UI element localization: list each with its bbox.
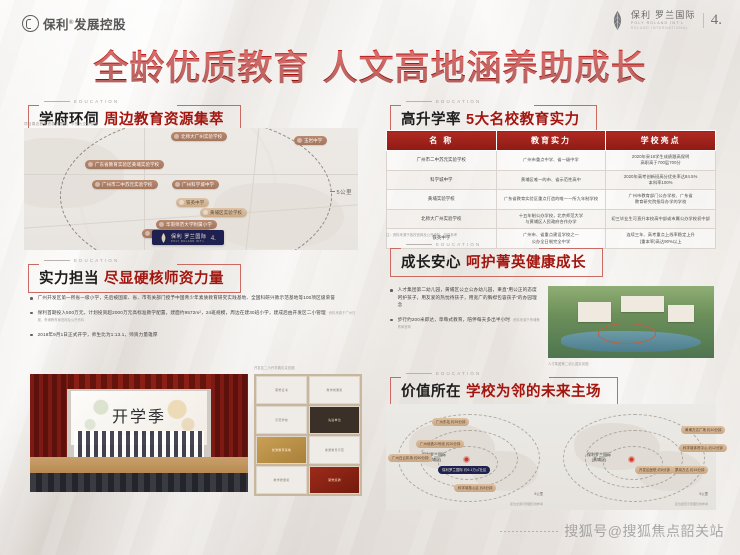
map-footnote: 区位配套示意图仅供参考 <box>675 502 708 506</box>
map-pin[interactable]: 玉岩中学 <box>294 136 327 145</box>
table-cell: 连续三年、高考重点上线率稳定上升(重本率)高达90%以上 <box>606 229 716 249</box>
award-plaque-label: 优秀教育基地 <box>272 448 291 452</box>
aerial-building <box>621 296 664 312</box>
section-growth-title-a: 成长安心 <box>401 255 461 271</box>
logo-divider <box>703 13 704 28</box>
school-icon <box>179 200 184 205</box>
project-location-district: (黄埔区) <box>587 457 611 462</box>
award-plaque: 教学成果奖 <box>309 376 360 404</box>
table-row: 黄埔实验学校广东省教育实验区重点打造的唯一一所九年制学校广州市教育部门公办学校、… <box>387 190 716 210</box>
section-faculty-title-b: 尽显硬核师资力量 <box>104 271 224 287</box>
location-map-left[interactable]: 保利罗兰国际(黄埔区)广州东站 约35分钟广州地铁21号线 约20分钟广州白云机… <box>386 404 551 510</box>
school-icon <box>174 134 179 139</box>
project-location-dot[interactable] <box>628 456 635 463</box>
kindergarten-aerial-photo[interactable] <box>548 286 714 358</box>
award-plaque-label: 荣誉证书 <box>275 388 288 392</box>
award-plaque-label: 教学成果奖 <box>326 388 342 392</box>
map-poi-tag[interactable]: 科学城体育中心 约12分钟 <box>679 444 727 452</box>
location-maps[interactable]: 保利罗兰国际(黄埔区)广州东站 约35分钟广州地铁21号线 约20分钟广州白云机… <box>386 404 716 510</box>
section-value-eyebrow: EDUCATION <box>390 371 618 376</box>
stage-performers <box>74 431 205 457</box>
bullet-text: 2018年9月1日正式开学，师生比为1:13.1，师资力量雄厚 <box>38 331 158 339</box>
map-poi-tag[interactable]: 开发区医院 约8分钟 <box>635 466 674 474</box>
brand-name-text: 保利 <box>43 18 69 32</box>
map-poi-tag[interactable]: 广州地铁21号线 约20分钟 <box>416 440 464 448</box>
poly-logo-icon <box>22 15 39 32</box>
bullet-text: 步行约200米即达，草莓式教育，陪伴每天多出半小时资料来源于黄埔教育局官网 <box>398 316 540 331</box>
map-poi-tag[interactable]: 广州东站 约35分钟 <box>432 418 469 426</box>
estate-marker[interactable]: 保利 罗兰国际 POLY ROLAND INT'L 4. <box>152 230 224 245</box>
section-growth-box: 成长安心呵护菁英健康成长 <box>390 248 603 277</box>
watermark-rule <box>500 531 558 532</box>
project-name-cn: 保利 罗兰国际 <box>631 11 696 20</box>
project-logo-text: 保利 罗兰国际 POLY ROLAND INT'L ROLAND INTERNA… <box>631 11 696 30</box>
project-logo: 保利 罗兰国际 POLY ROLAND INT'L ROLAND INTERNA… <box>611 11 722 30</box>
brand-name: 保利®发展控股 <box>43 14 126 33</box>
stage-curtain-left <box>30 374 67 461</box>
map-pin-label: 铁英中学 <box>186 200 204 206</box>
table-cell: 十五年制公办学校，北京师范大学与黄埔区人民政府合作办学 <box>496 209 606 229</box>
section-header-faculty: EDUCATION 实力担当尽显硬核师资力量 <box>28 258 241 293</box>
bullet-text: 广州开发区第一所省一级小学，先后被国家、省、市有关部门授予中国青少年素质教育研究… <box>38 294 336 302</box>
school-icon <box>297 138 302 143</box>
photo-caption: 开发区二小开学典礼实景图 <box>254 365 295 370</box>
award-plaque-label: 示范学校 <box>275 418 288 422</box>
map-poi-tag[interactable]: 广州白云机场 约50分钟 <box>388 454 432 462</box>
project-name-en2: ROLAND INTERNATIONAL <box>631 27 696 30</box>
section-header-value: EDUCATION 价值所在学校为邻的未来主场 <box>390 371 618 406</box>
table-cell: 广州市二中苏元实验学校 <box>387 151 497 171</box>
bullet-source: 资料来源于黄埔教育局官网 <box>398 318 540 330</box>
section-value-title-a: 价值所在 <box>401 384 461 400</box>
brand-logo: 保利®发展控股 <box>22 14 126 33</box>
table-cell: 2020年高考创新班高分优先率达84.5%本科率100% <box>606 170 716 190</box>
map-pin[interactable]: 北师大广州实验学校 <box>171 132 227 141</box>
estate-name-cn: 保利 罗兰国际 <box>171 233 207 240</box>
faculty-bullet-list: 广州开发区第一所省一级小学，先后被国家、省、市有关部门授予中国青少年素质教育研究… <box>30 294 358 345</box>
map-project-tag[interactable]: 保利罗兰国际 约6.1万㎡社区 <box>438 466 490 474</box>
aerial-building <box>668 305 695 322</box>
leaf-icon <box>611 11 624 30</box>
table-disclaimer: 注：资料来源于各校官网及公开资料，仅供参考 <box>386 232 457 237</box>
section-campus-title-b: 周边教育资源集萃 <box>104 112 224 128</box>
table-cell: 初三毕业生可直升本校高中部或市属公办学校初中部 <box>606 209 716 229</box>
map-poi-tag[interactable]: 萝岗万达 约15分钟 <box>671 466 708 474</box>
table-cell: 广州市教育部门公办学校、广东省教育研究院指导办学的学校 <box>606 190 716 210</box>
section-faculty-eyebrow: EDUCATION <box>28 258 241 263</box>
map-pin-label: 黄埔区实验学校 <box>210 210 242 216</box>
award-plaque: 示范学校 <box>256 406 307 434</box>
bullet-item: 保利首期投入500万元，计划投资超2000万元高标准教学配置，建面约9572m²… <box>30 309 358 324</box>
logo-phase-mark: 4. <box>711 12 722 29</box>
table-row: 科学城中学黄埔区唯一的市、省示范性高中2020年高考创新班高分优先率达84.5%… <box>387 170 716 190</box>
table-row: 广州市二中苏元实验学校广州市重点中学、省一级中学2020年采18学生成绩跟高保明… <box>387 151 716 171</box>
award-plaque: 荣誉证书 <box>256 376 307 404</box>
bullet-source: 资料来源于广州日报、黄埔教育局官网及公开资料 <box>38 311 356 323</box>
estate-name-en: POLY ROLAND INT'L <box>171 240 207 243</box>
bullet-dot-icon <box>390 319 393 322</box>
table-row: 北师大广州实验学校十五年制公办学校，北京师范大学与黄埔区人民政府合作办学初三毕业… <box>387 209 716 229</box>
map-pin[interactable]: 华南师范大学附属小学 <box>156 220 217 229</box>
watermark: 搜狐号@搜狐焦点韶关站 <box>500 521 724 541</box>
map-poi-tag[interactable]: 黄埔万达广场 约10分钟 <box>681 426 725 434</box>
map-pin[interactable]: 广东省教育实验区黄埔实验学校 <box>85 160 164 169</box>
school-icon <box>175 182 180 187</box>
project-location-label: 保利罗兰国际(黄埔区) <box>587 452 611 463</box>
map-pin[interactable]: 广州市二中苏元实验学校 <box>92 180 158 189</box>
school-icon <box>145 231 150 236</box>
award-plaque: 教学质量奖 <box>256 466 307 494</box>
map-poi-tag[interactable]: 科学城核心区 约8分钟 <box>454 484 496 492</box>
stage-audience <box>30 473 248 492</box>
table-header-cell: 名 称 <box>387 131 497 151</box>
map-pin-label: 华南师范大学附属小学 <box>166 222 212 228</box>
map-radius-ring <box>603 446 663 480</box>
stage-banner-text: 开学季 <box>112 403 166 427</box>
section-header-rate: EDUCATION 高升学率5大名校教育实力 <box>390 99 597 134</box>
section-faculty-title-a: 实力担当 <box>39 271 99 287</box>
map-pin-label: 广州市二中苏元实验学校 <box>102 182 153 188</box>
stage-floor <box>30 457 248 474</box>
bullet-dot-icon <box>30 334 33 337</box>
table-cell: 黄埔实验学校 <box>387 190 497 210</box>
bullet-item: 2018年9月1日正式开学，师生比为1:13.1，师资力量雄厚 <box>30 331 358 339</box>
table-cell: 黄埔区唯一的市、省示范性高中 <box>496 170 606 190</box>
project-location-dot[interactable] <box>463 456 470 463</box>
award-plaque-label: 素质教育示范 <box>325 448 344 452</box>
brand-suffix: 发展控股 <box>74 18 126 32</box>
table-cell: 2020年采18学生成绩跟高保明高职高于700层700分 <box>606 151 716 171</box>
school-icon <box>159 222 164 227</box>
school-ceremony-photo[interactable]: 开学季 2018 学年开学典礼 <box>30 374 248 492</box>
bullet-text: 保利首期投入500万元，计划投资超2000万元高标准教学配置，建面约9572m²… <box>38 309 358 324</box>
poster-sheet: 保利®发展控股 保利 罗兰国际 POLY ROLAND INT'L ROLAND… <box>0 0 740 555</box>
award-plaque-label: 荣誉奖牌 <box>328 478 341 482</box>
table-header-row: 名 称教育实力学校亮点 <box>387 131 716 151</box>
table-header-cell: 教育实力 <box>496 131 606 151</box>
bullet-item: 广州开发区第一所省一级小学，先后被国家、省、市有关部门授予中国青少年素质教育研究… <box>30 294 358 302</box>
award-plaque: 先进单位 <box>309 406 360 434</box>
map-scale-label: 5公里 <box>534 491 543 496</box>
section-campus-eyebrow: EDUCATION <box>28 99 241 104</box>
award-plaque: 素质教育示范 <box>309 436 360 464</box>
map-radius-label: 5公里 <box>337 188 353 196</box>
section-rate-title-b: 5大名校教育实力 <box>466 112 580 128</box>
map-pin-label: 广东省教育实验区黄埔实验学校 <box>95 162 159 168</box>
map-disclaimer: 项目周边教育资源示意图，不作为交付标准 <box>24 122 98 127</box>
award-plaque-label: 先进单位 <box>328 418 341 422</box>
page-title: 全龄优质教育 人文高地涵养助成长 <box>0 40 740 91</box>
aerial-building <box>578 302 611 322</box>
stage-curtain-right <box>211 374 248 461</box>
map-pin[interactable]: 黄埔区实验学校 <box>200 208 247 217</box>
watermark-text: 搜狐号@搜狐焦点韶关站 <box>564 521 724 541</box>
school-icon <box>95 182 100 187</box>
award-plaque-label: 教学质量奖 <box>273 478 289 482</box>
section-header-growth: EDUCATION 成长安心呵护菁英健康成长 <box>390 242 603 277</box>
school-icon <box>203 210 208 215</box>
map-pin-label: 广州科学城中学 <box>182 182 214 188</box>
table-cell: 广东省教育实验区重点打造的唯一一所九年制学校 <box>496 190 606 210</box>
surrounding-schools-map[interactable]: 5公里 北师大广州实验学校玉岩中学广东省教育实验区黄埔实验学校广州市二中苏元实验… <box>24 128 358 250</box>
bullet-dot-icon <box>390 289 393 292</box>
bullet-item: 人才集团第二幼儿园，黄埔区公立公办幼儿园，秉直“用公正的态度呵护孩子，用友爱的热… <box>390 286 540 309</box>
location-map-right[interactable]: 保利罗兰国际(黄埔区)黄埔万达广场 约10分钟科学城体育中心 约12分钟开发区医… <box>551 404 716 510</box>
award-plaque: 荣誉奖牌 <box>309 466 360 494</box>
bullet-item: 步行约200米即达，草莓式教育，陪伴每天多出半小时资料来源于黄埔教育局官网 <box>390 316 540 331</box>
table-header-cell: 学校亮点 <box>606 131 716 151</box>
section-growth-title-b: 呵护菁英健康成长 <box>466 255 586 271</box>
photo-caption: 人才集团第二幼儿园实景图 <box>548 361 589 366</box>
school-icon <box>88 162 93 167</box>
estate-phase-mark: 4. <box>211 234 216 242</box>
section-faculty-box: 实力担当尽显硬核师资力量 <box>28 264 241 293</box>
table-cell: 北师大广州实验学校 <box>387 209 497 229</box>
map-scale-label: 5公里 <box>699 491 708 496</box>
bullet-text: 人才集团第二幼儿园，黄埔区公立公办幼儿园，秉直“用公正的态度呵护孩子，用友爱的热… <box>398 286 540 309</box>
awards-plaque-grid[interactable]: 荣誉证书教学成果奖示范学校先进单位优秀教育基地素质教育示范教学质量奖荣誉奖牌 <box>254 374 362 496</box>
table-cell: 科学城中学 <box>387 170 497 190</box>
growth-bullet-list: 人才集团第二幼儿园，黄埔区公立公办幼儿园，秉直“用公正的态度呵护孩子，用友爱的热… <box>390 286 540 338</box>
section-rate-eyebrow: EDUCATION <box>390 99 597 104</box>
bullet-dot-icon <box>30 312 33 315</box>
section-value-box: 价值所在学校为邻的未来主场 <box>390 377 618 406</box>
section-rate-title-a: 高升学率 <box>401 112 461 128</box>
section-value-title-b: 学校为邻的未来主场 <box>466 384 601 400</box>
section-growth-eyebrow: EDUCATION <box>390 242 603 247</box>
map-radius-ring <box>438 446 498 480</box>
map-pin-label: 玉岩中学 <box>304 138 322 144</box>
map-pin[interactable]: 铁英中学 <box>176 198 209 207</box>
map-footnote: 区位交通示意图仅供参考 <box>510 502 543 506</box>
leaf-icon <box>160 233 167 243</box>
map-pin-label: 北师大广州实验学校 <box>181 134 222 140</box>
table-cell: 广州市重点中学、省一级中学 <box>496 151 606 171</box>
bullet-dot-icon <box>30 297 33 300</box>
map-pin[interactable]: 广州科学城中学 <box>172 180 219 189</box>
award-plaque: 优秀教育基地 <box>256 436 307 464</box>
